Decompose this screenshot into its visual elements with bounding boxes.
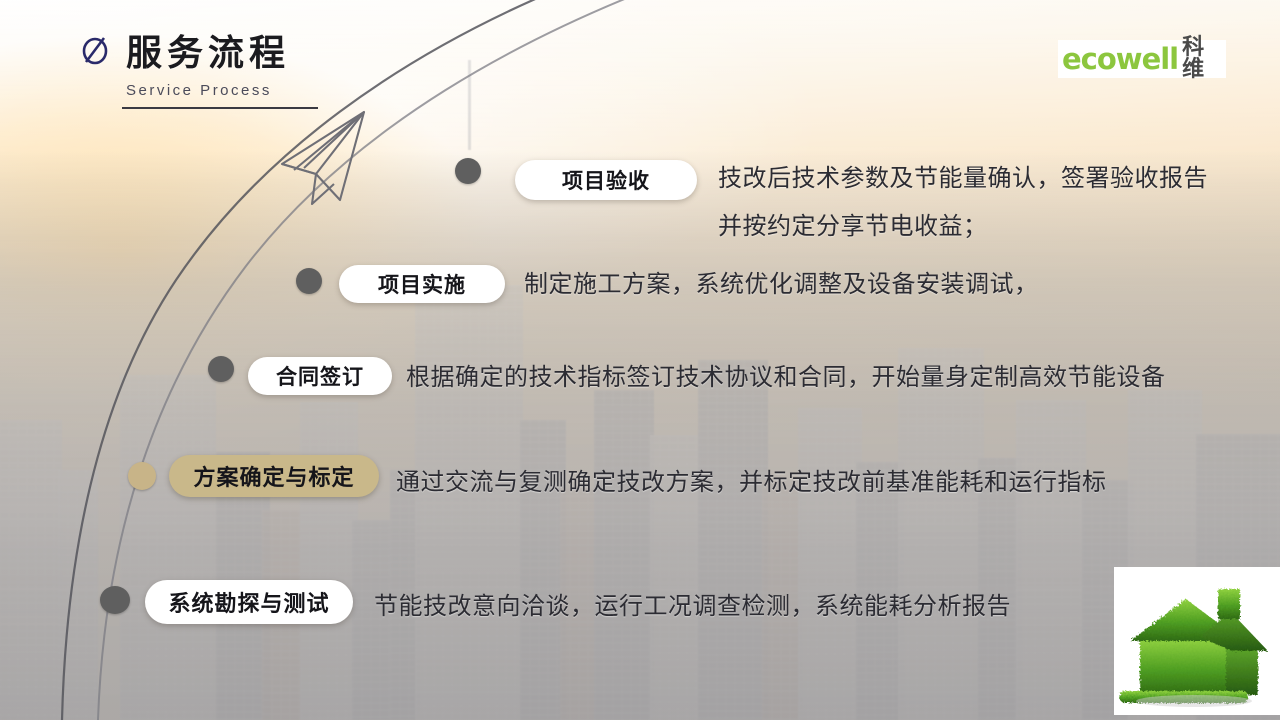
step-pill-2[interactable]: 项目实施 (339, 265, 505, 303)
step-dot-1 (455, 158, 481, 184)
step-desc-5-line-1: 节能技改意向洽谈，运行工况调查检测，系统能耗分析报告 (374, 586, 1011, 621)
step-label-3: 合同签订 (276, 361, 364, 391)
green-grass-house-icon (1114, 567, 1280, 715)
brand-logo-chinese: 科维 (1182, 37, 1222, 81)
page-title-block: 服务流程 Service Process (78, 24, 318, 109)
step-desc-2-line-1: 制定施工方案，系统优化调整及设备安装调试， (524, 264, 1039, 299)
step-label-2: 项目实施 (378, 269, 466, 299)
step-dot-2 (296, 268, 322, 294)
step-desc-1-line-2: 并按约定分享节电收益； (718, 206, 988, 241)
step-label-1: 项目验收 (562, 165, 650, 195)
step-dot-4 (128, 462, 156, 490)
step-pill-3[interactable]: 合同签订 (248, 357, 392, 395)
step-pill-4[interactable]: 方案确定与标定 (169, 455, 379, 497)
page-subtitle: Service Process (126, 82, 318, 99)
brand-logo: ecowell 科维 (1058, 40, 1226, 78)
slide-canvas: 服务流程 Service Process ecowell 科维 项目验收 技改后… (0, 0, 1280, 720)
step-dot-3 (208, 356, 234, 382)
page-title: 服务流程 (126, 24, 290, 76)
title-divider (122, 107, 318, 109)
step-pill-1[interactable]: 项目验收 (515, 160, 697, 200)
step-label-4: 方案确定与标定 (193, 460, 354, 492)
slashed-circle-icon (78, 33, 112, 67)
step-desc-1-line-1: 技改后技术参数及节能量确认，签署验收报告 (718, 158, 1208, 193)
step-pill-5[interactable]: 系统勘探与测试 (145, 580, 353, 624)
step-desc-3-line-1: 根据确定的技术指标签订技术协议和合同，开始量身定制高效节能设备 (406, 357, 1166, 392)
step-desc-4-line-1: 通过交流与复测确定技改方案，并标定技改前基准能耗和运行指标 (396, 462, 1107, 497)
brand-logo-latin: ecowell (1062, 45, 1178, 74)
step-dot-5 (100, 586, 130, 614)
step-label-5: 系统勘探与测试 (168, 586, 329, 618)
